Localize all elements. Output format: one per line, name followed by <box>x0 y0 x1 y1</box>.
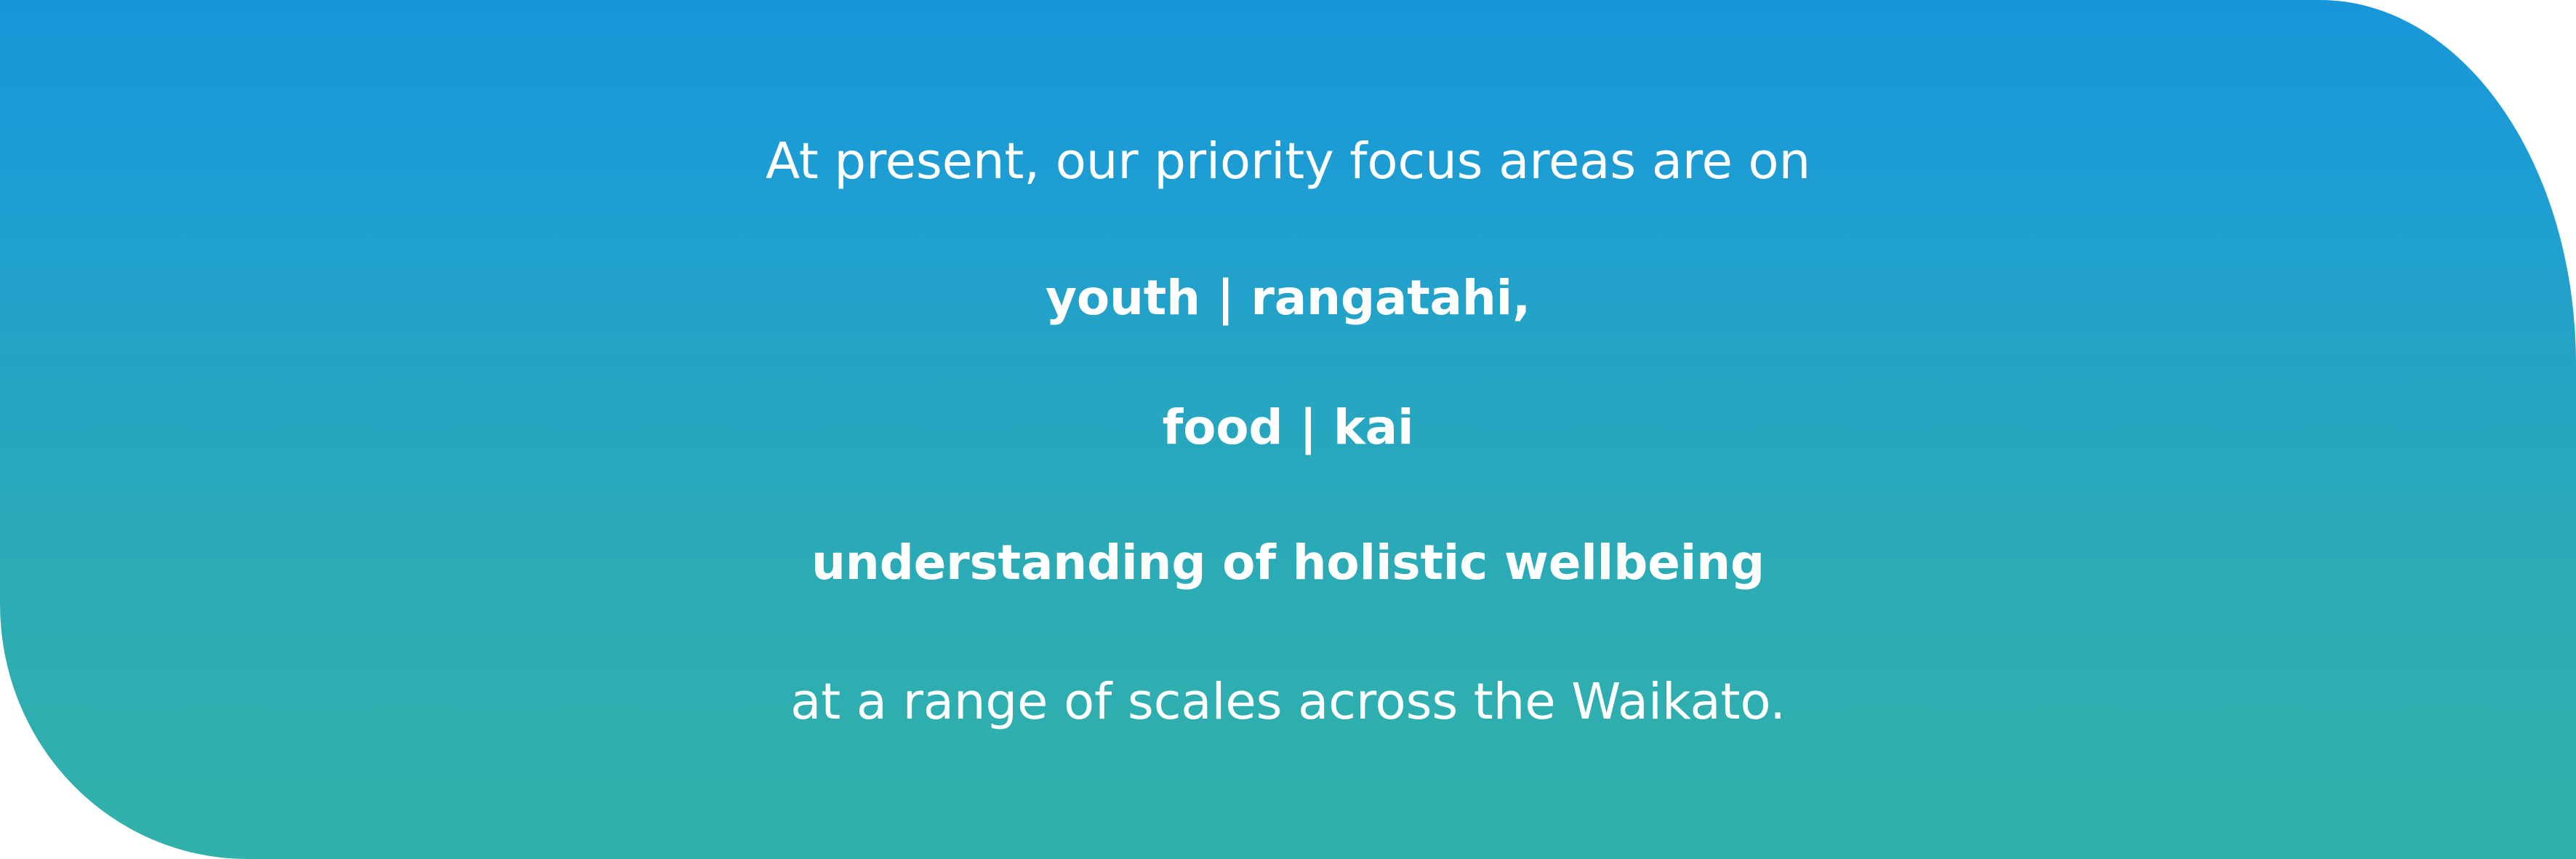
banner-line-focus-wellbeing: understanding of holistic wellbeing <box>0 539 2576 587</box>
banner-line-focus-youth: youth | rangatahi, <box>0 274 2576 322</box>
priority-focus-banner: At present, our priority focus areas are… <box>0 0 2576 859</box>
banner-line-intro: At present, our priority focus areas are… <box>0 137 2576 187</box>
banner-text-block: At present, our priority focus areas are… <box>0 132 2576 727</box>
banner-line-focus-food: food | kai <box>0 404 2576 452</box>
banner-line-outro: at a range of scales across the Waikato. <box>0 677 2576 727</box>
